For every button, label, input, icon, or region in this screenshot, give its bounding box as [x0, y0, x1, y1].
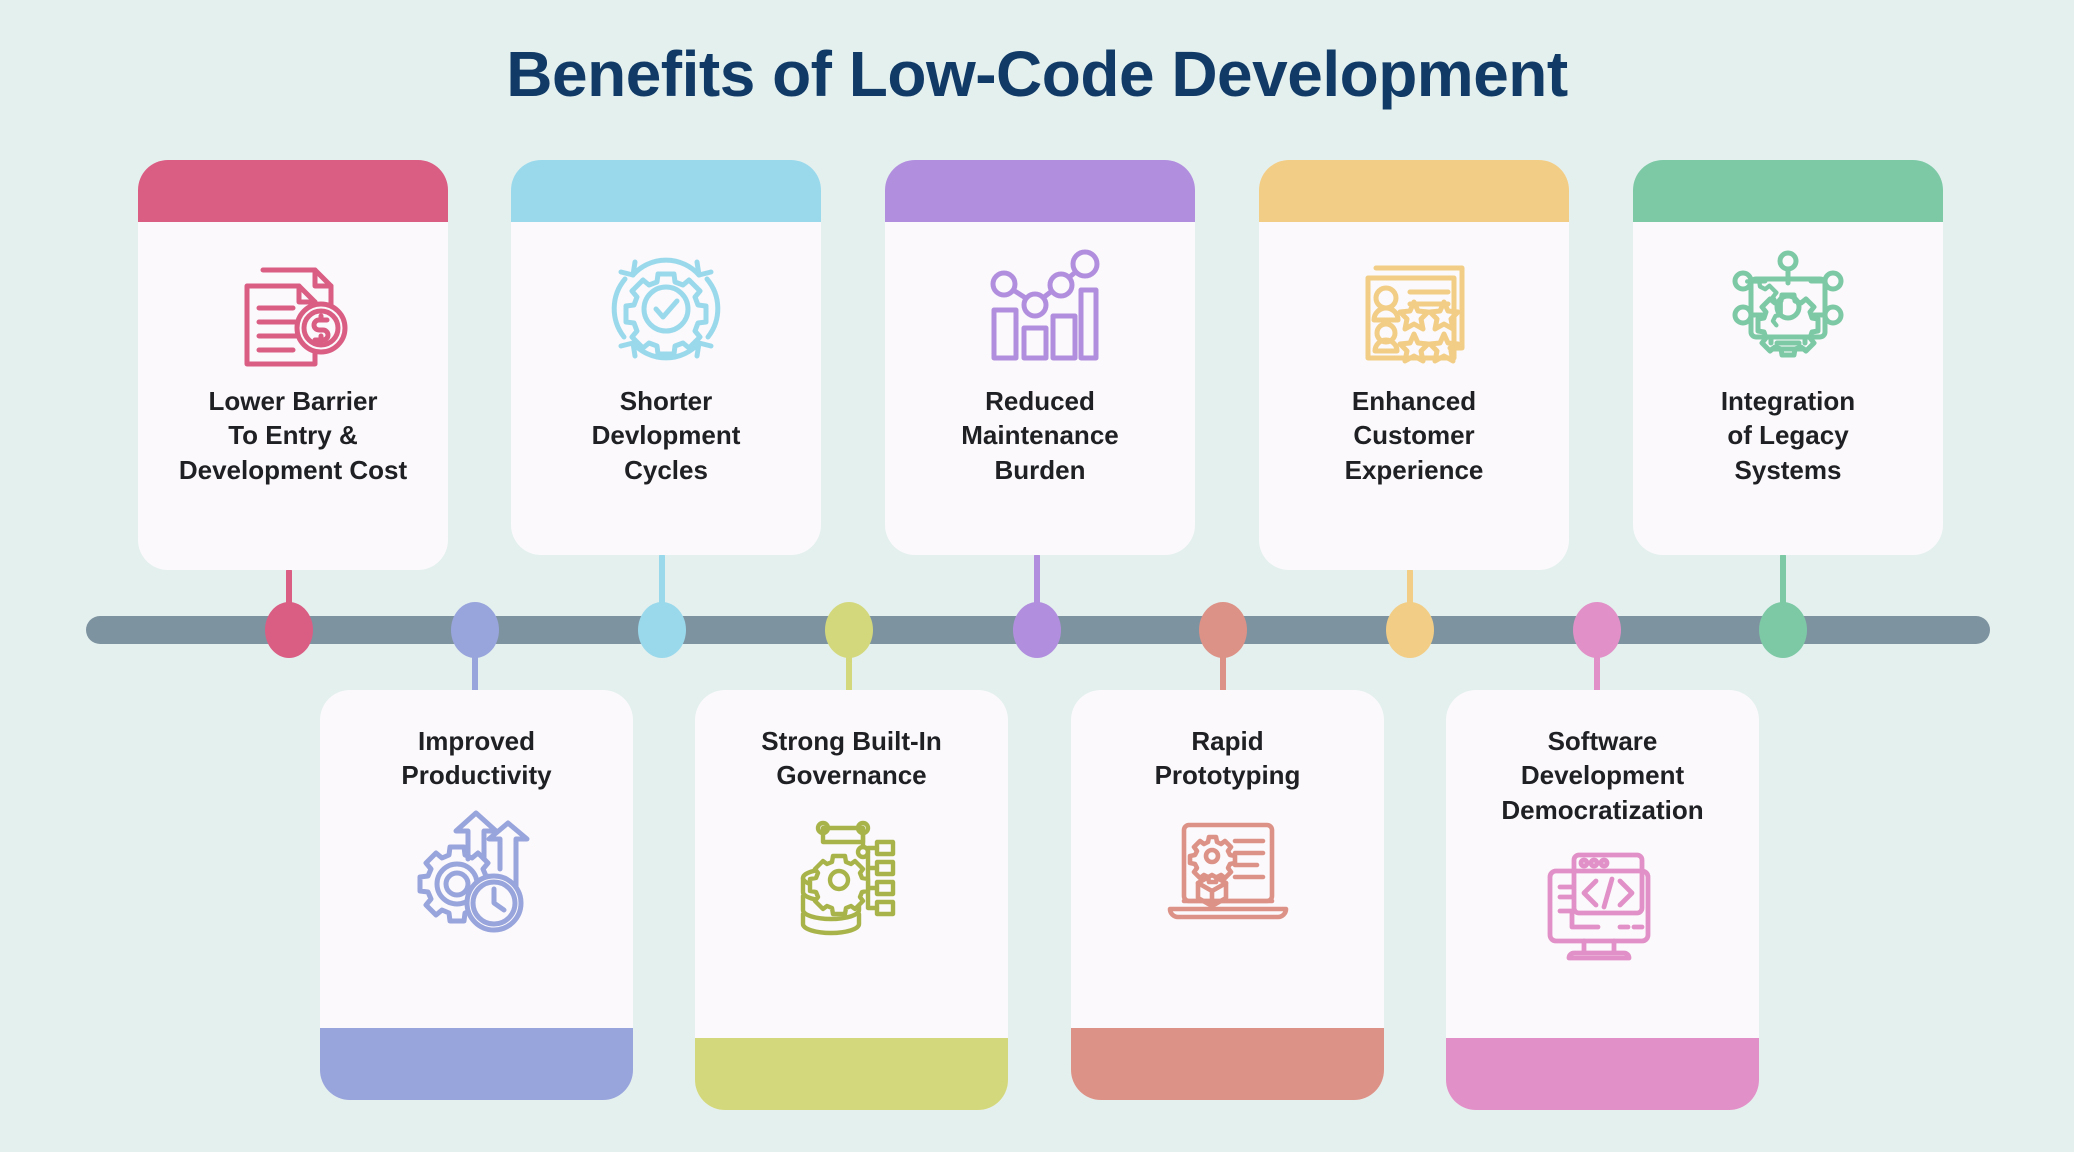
timeline-dot-reduced-maintenance[interactable]: [1013, 602, 1061, 658]
timeline-dot-enhanced-customer[interactable]: [1386, 602, 1434, 658]
monitor-network-gear-icon: [1713, 238, 1863, 380]
card-reduced-maintenance[interactable]: Reduced Maintenance Burden: [885, 160, 1195, 555]
laptop-prototype-icon: [1153, 799, 1303, 949]
card-accent-band-democratization: [1446, 1038, 1759, 1110]
card-label-improved-productivity: Improved Productivity: [395, 724, 557, 793]
document-dollar-icon: [218, 238, 368, 380]
card-accent-band-strong-governance: [695, 1038, 1008, 1110]
card-label-enhanced-customer: Enhanced Customer Experience: [1339, 384, 1490, 487]
card-accent-band-rapid-prototyping: [1071, 1028, 1384, 1100]
timeline-dot-improved-productivity[interactable]: [451, 602, 499, 658]
timeline-dot-democratization[interactable]: [1573, 602, 1621, 658]
card-accent-band-shorter-cycles: [511, 160, 821, 222]
timeline-dot-lower-barrier[interactable]: [265, 602, 313, 658]
card-shorter-cycles[interactable]: Shorter Devlopment Cycles: [511, 160, 821, 555]
card-accent-band-reduced-maintenance: [885, 160, 1195, 222]
infographic-canvas: Benefits of Low-Code Development: [0, 0, 2074, 1152]
card-accent-band-improved-productivity: [320, 1028, 633, 1100]
card-accent-band-enhanced-customer: [1259, 160, 1569, 222]
card-rapid-prototyping[interactable]: Rapid Prototyping: [1071, 690, 1384, 1100]
card-lower-barrier[interactable]: Lower Barrier To Entry & Development Cos…: [138, 160, 448, 570]
card-label-rapid-prototyping: Rapid Prototyping: [1149, 724, 1307, 793]
gear-refresh-check-icon: [591, 238, 741, 380]
timeline-dot-rapid-prototyping[interactable]: [1199, 602, 1247, 658]
server-network-gear-icon: [777, 799, 927, 949]
card-accent-band-lower-barrier: [138, 160, 448, 222]
timeline-dot-shorter-cycles[interactable]: [638, 602, 686, 658]
bar-chart-trend-icon: [965, 238, 1115, 380]
card-legacy-integration[interactable]: Integration of Legacy Systems: [1633, 160, 1943, 555]
card-label-lower-barrier: Lower Barrier To Entry & Development Cos…: [173, 384, 413, 487]
card-label-shorter-cycles: Shorter Devlopment Cycles: [586, 384, 747, 487]
card-accent-band-legacy-integration: [1633, 160, 1943, 222]
card-improved-productivity[interactable]: Improved Productivity: [320, 690, 633, 1100]
card-democratization[interactable]: Software Development Democratization: [1446, 690, 1759, 1110]
timeline-dot-legacy-integration[interactable]: [1759, 602, 1807, 658]
gear-clock-arrows-icon: [402, 799, 552, 949]
card-enhanced-customer[interactable]: Enhanced Customer Experience: [1259, 160, 1569, 570]
card-label-legacy-integration: Integration of Legacy Systems: [1715, 384, 1861, 487]
card-label-democratization: Software Development Democratization: [1495, 724, 1709, 827]
card-label-reduced-maintenance: Reduced Maintenance Burden: [955, 384, 1125, 487]
monitor-code-icon: [1528, 833, 1678, 983]
card-label-strong-governance: Strong Built-In Governance: [755, 724, 948, 793]
card-strong-governance[interactable]: Strong Built-In Governance: [695, 690, 1008, 1110]
page-title: Benefits of Low-Code Development: [0, 38, 2074, 112]
review-stars-icon: [1339, 238, 1489, 380]
timeline-dot-strong-governance[interactable]: [825, 602, 873, 658]
